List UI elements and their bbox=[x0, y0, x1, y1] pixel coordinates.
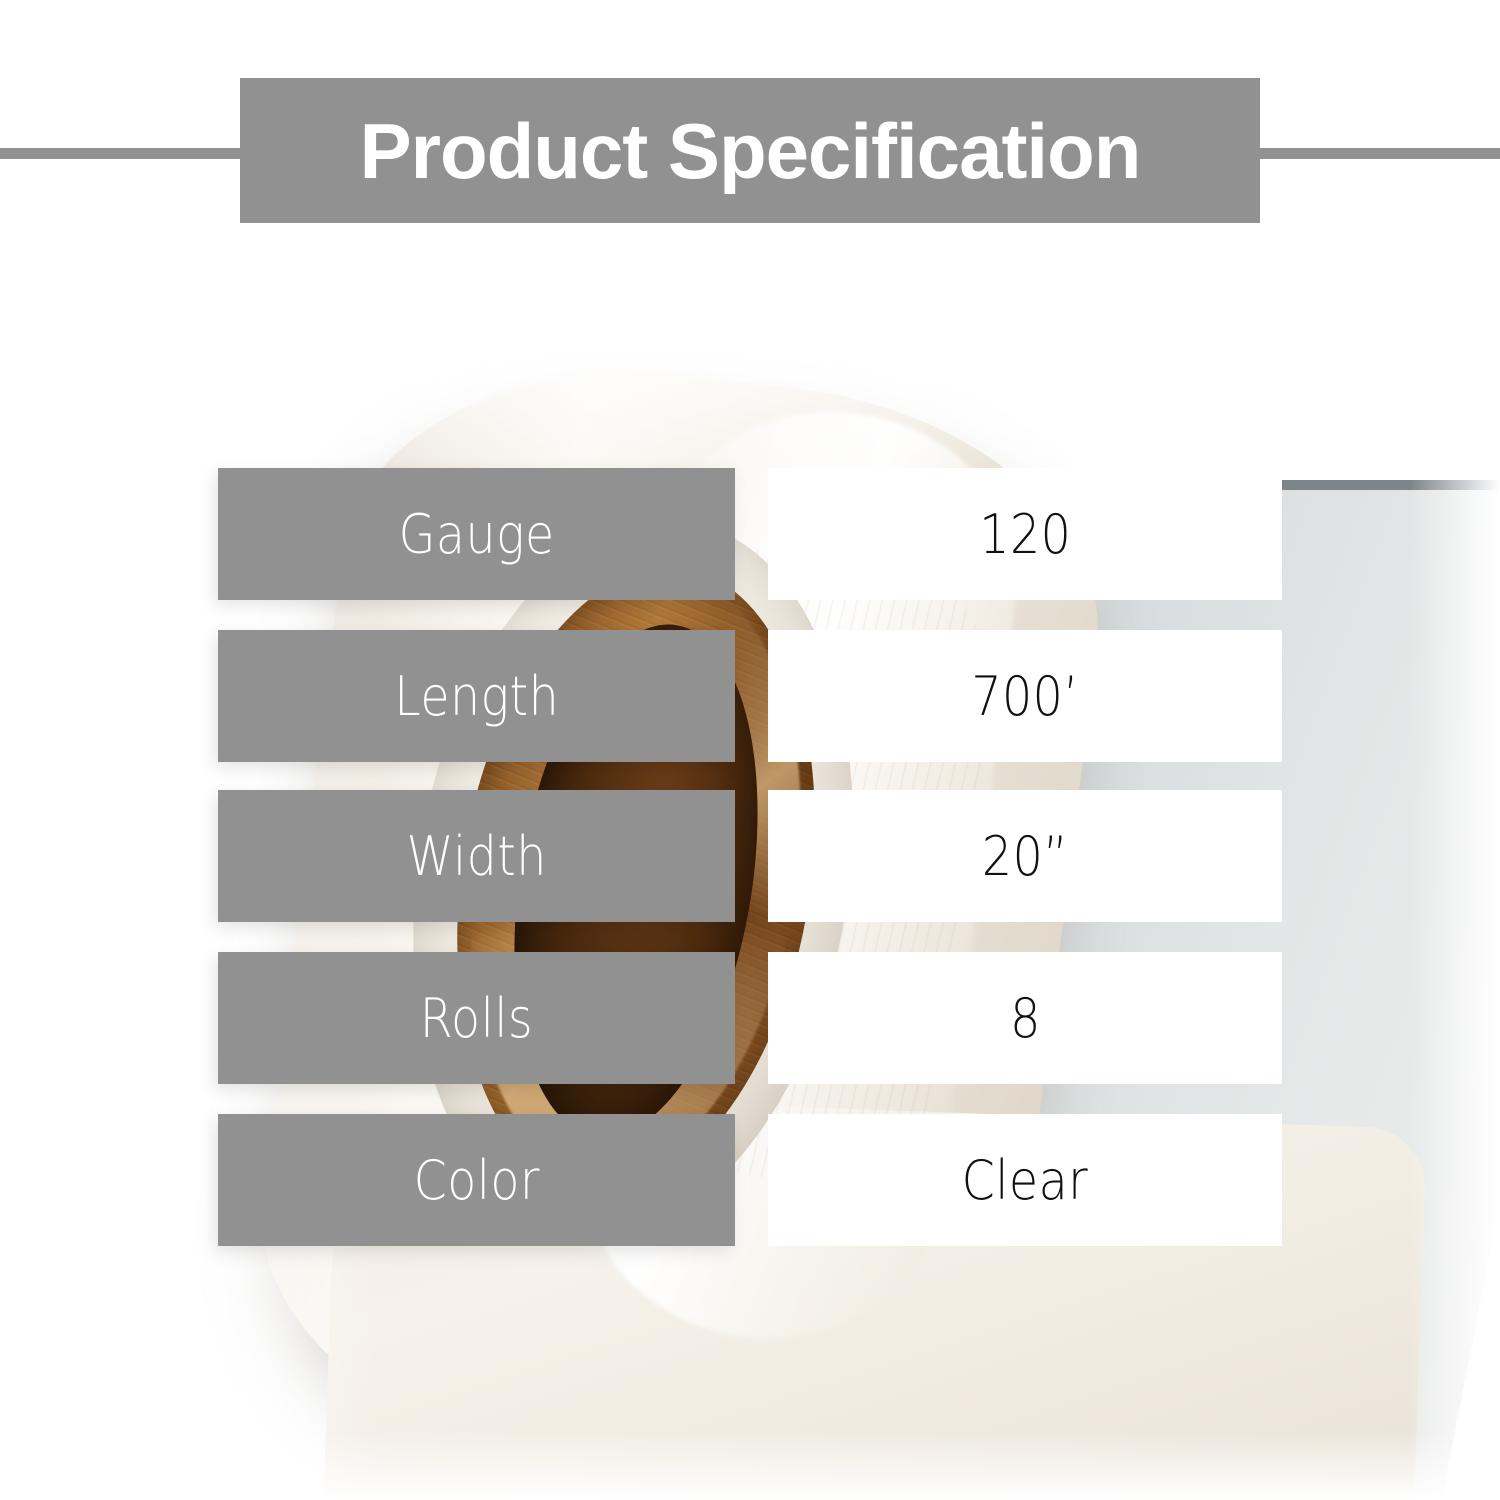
spec-label-cell: Width bbox=[218, 790, 735, 922]
specification-table: Gauge120Length700’Width20”Rolls8ColorCle… bbox=[0, 0, 1500, 1500]
spec-row: ColorClear bbox=[0, 1114, 1500, 1246]
spec-label-text: Gauge bbox=[398, 503, 554, 566]
page-canvas: Product Specification Gauge120Length700’… bbox=[0, 0, 1500, 1500]
spec-value-text: Clear bbox=[962, 1149, 1088, 1212]
spec-value-text: 120 bbox=[979, 503, 1071, 566]
spec-label-text: Rolls bbox=[420, 987, 533, 1050]
spec-row: Length700’ bbox=[0, 630, 1500, 762]
spec-row: Rolls8 bbox=[0, 952, 1500, 1084]
spec-label-cell: Color bbox=[218, 1114, 735, 1246]
spec-row: Width20” bbox=[0, 790, 1500, 922]
spec-label-cell: Length bbox=[218, 630, 735, 762]
spec-row: Gauge120 bbox=[0, 468, 1500, 600]
spec-label-text: Color bbox=[413, 1149, 539, 1212]
spec-value-cell: Clear bbox=[768, 1114, 1282, 1246]
spec-value-cell: 120 bbox=[768, 468, 1282, 600]
spec-value-text: 700’ bbox=[971, 665, 1079, 728]
spec-label-text: Length bbox=[394, 665, 559, 728]
spec-label-cell: Rolls bbox=[218, 952, 735, 1084]
spec-value-cell: 700’ bbox=[768, 630, 1282, 762]
spec-value-text: 20” bbox=[982, 825, 1068, 888]
spec-value-text: 8 bbox=[1010, 987, 1041, 1050]
spec-label-cell: Gauge bbox=[218, 468, 735, 600]
spec-value-cell: 8 bbox=[768, 952, 1282, 1084]
spec-label-text: Width bbox=[406, 825, 546, 888]
spec-value-cell: 20” bbox=[768, 790, 1282, 922]
